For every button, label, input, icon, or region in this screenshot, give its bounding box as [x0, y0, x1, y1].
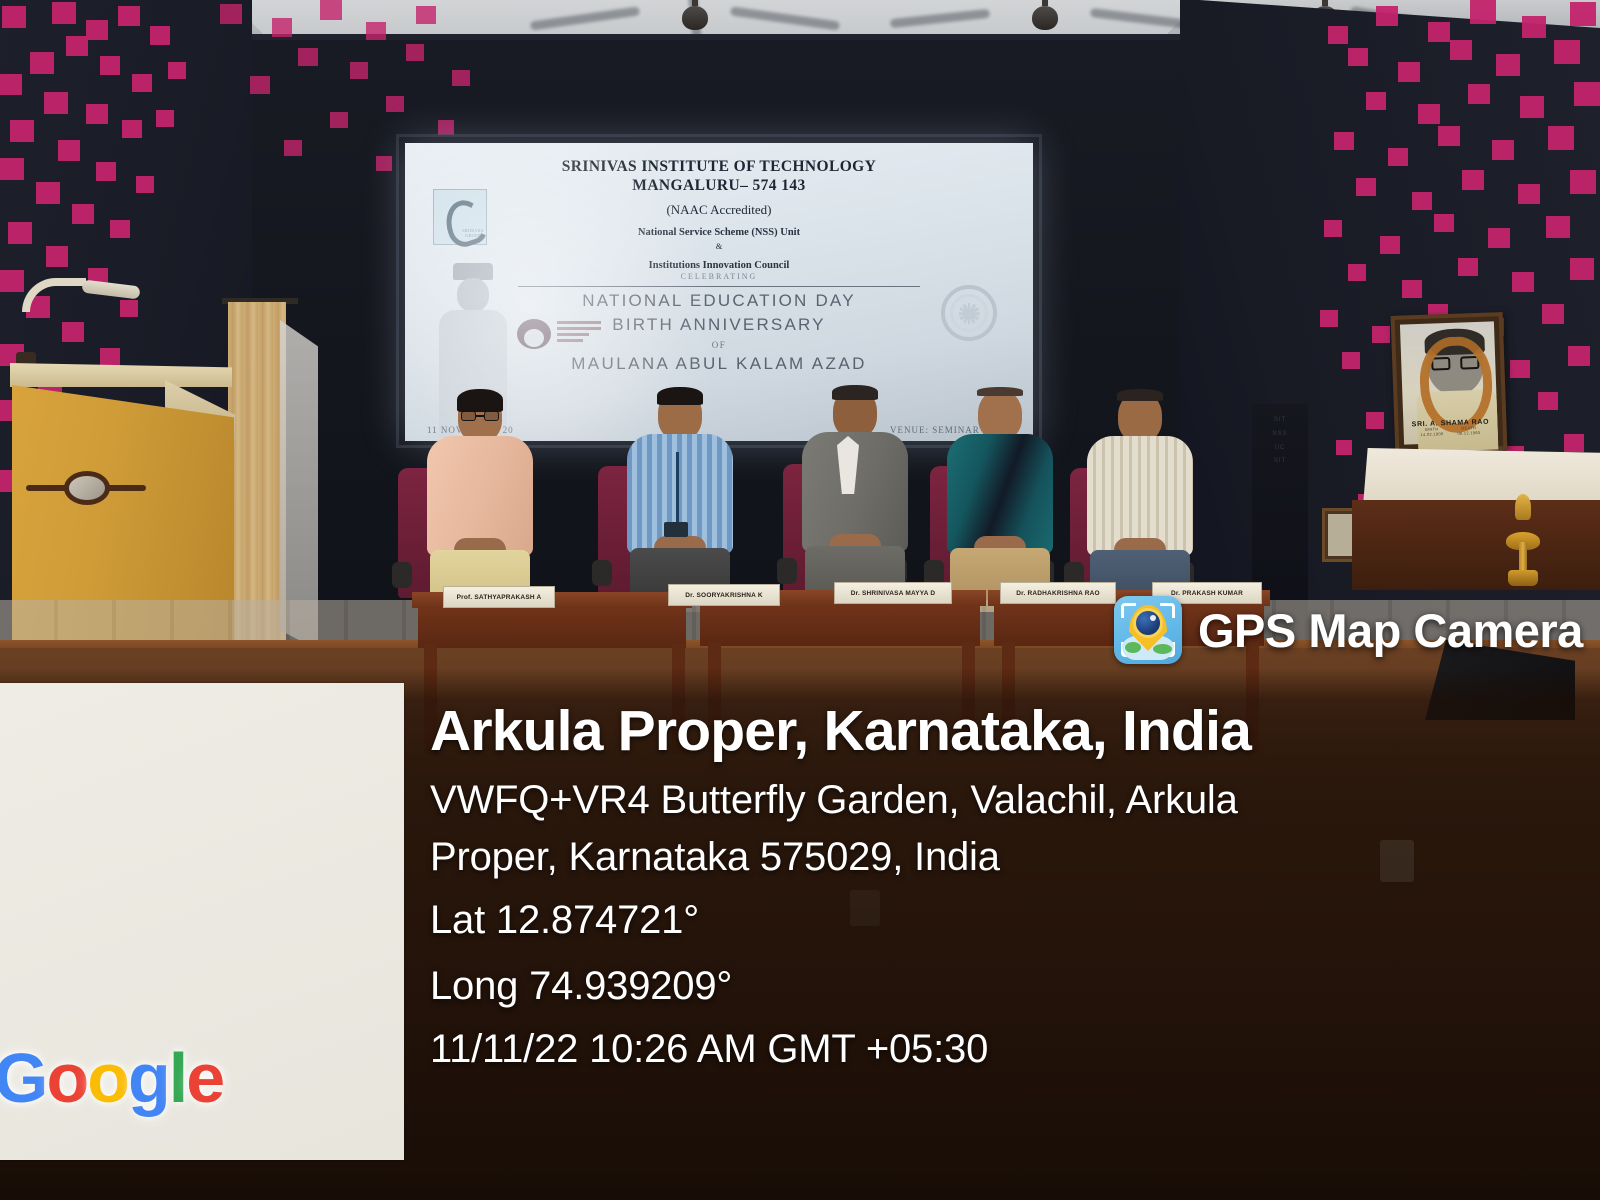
portrait-death: DEATH 08.12.1965: [1450, 425, 1488, 436]
slide-council: Institutions Innovation Council: [415, 260, 1023, 271]
camera-lens-icon: [1136, 611, 1160, 635]
slide-event-subtitle: BIRTH ANNIVERSARY: [415, 315, 1023, 335]
google-logo: G o o g l e: [0, 1040, 244, 1116]
location-address-line2: Proper, Karnataka 575029, India: [430, 829, 1580, 886]
nameplate: Dr. RADHAKRISHNA RAO: [1000, 582, 1116, 604]
nameplate: Prof. SATHYAPRAKASH A: [443, 586, 555, 608]
brass-oil-lamp: [1506, 494, 1540, 586]
location-longitude: Long 74.939209°: [430, 955, 1580, 1017]
slide-divider: [518, 286, 919, 287]
nameplate: Dr. SOORYAKRISHNA K: [668, 584, 780, 606]
slide-institute-name: SRINIVAS INSTITUTE OF TECHNOLOGY: [415, 157, 1023, 176]
slide-unit: National Service Scheme (NSS) Unit: [415, 227, 1023, 238]
screenshot-root: SRINIVAS GROUP SRINIVAS INSTI: [0, 0, 1600, 1200]
ashoka-chakra-logo: [941, 285, 997, 341]
location-latitude: Lat 12.874721°: [430, 889, 1580, 951]
slide-event-title: NATIONAL EDUCATION DAY: [415, 291, 1023, 311]
nameplate: Dr. SHRINIVASA MAYYA D: [834, 582, 952, 604]
google-letter-g1: G: [0, 1038, 46, 1118]
dais-table: [700, 600, 980, 646]
dais-table: [418, 602, 686, 648]
slide-ampersand: &: [415, 241, 1023, 251]
google-letter-o2: o: [87, 1038, 128, 1118]
nss-logo: [517, 313, 603, 357]
map-thumbnail-panel[interactable]: G o o g l e: [0, 683, 404, 1160]
gps-map-camera-watermark: GPS Map Camera: [1114, 596, 1583, 664]
podium-emblem: [26, 470, 146, 506]
portrait-birth: BIRTH 14.02.1900: [1414, 426, 1451, 437]
srinivas-institute-logo: SRINIVAS GROUP: [433, 189, 487, 245]
slide-celebrating: CELEBRATING: [415, 272, 1023, 281]
slide-honoree: MAULANA ABUL KALAM AZAD: [415, 354, 1023, 374]
slide-institute-address: MANGALURU– 574 143: [415, 176, 1023, 195]
google-letter-e: e: [186, 1038, 223, 1118]
slide-of-label: OF: [415, 340, 1023, 350]
google-letter-o1: o: [46, 1038, 87, 1118]
location-info-block: Arkula Proper, Karnataka, India VWFQ+VR4…: [430, 700, 1580, 1072]
location-address-line1: VWFQ+VR4 Butterfly Garden, Valachil, Ark…: [430, 772, 1580, 829]
framed-portrait: SRI. A. SHAMA RAO BIRTH 14.02.1900 DEATH…: [1391, 312, 1508, 454]
location-place: Arkula Proper, Karnataka, India: [430, 700, 1580, 764]
slide-accreditation: (NAAC Accredited): [415, 202, 1023, 218]
gps-map-camera-icon: [1114, 596, 1182, 664]
location-timestamp: 11/11/22 10:26 AM GMT +05:30: [430, 1027, 1580, 1072]
google-letter-g2: g: [128, 1038, 169, 1118]
watermark-label: GPS Map Camera: [1198, 603, 1583, 658]
google-letter-l: l: [169, 1038, 186, 1118]
side-table: [1352, 500, 1600, 590]
